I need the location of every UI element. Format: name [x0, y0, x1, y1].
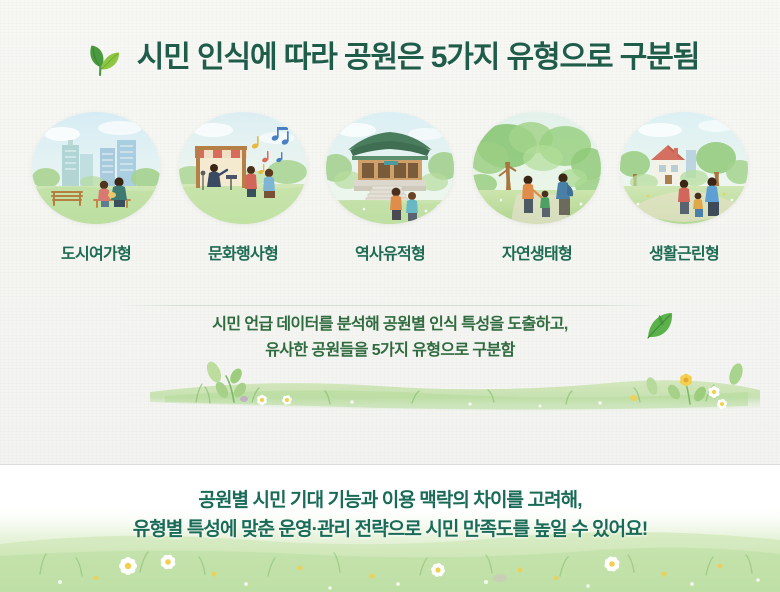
cultural-event-stage-illustration — [179, 112, 307, 224]
footer-message-line-1: 공원별 시민 기대 기능과 이용 맥락의 차이를 고려해, — [0, 486, 780, 515]
headline-row: 시민 인식에 따라 공원은 5가지 유형으로 구분됨 — [0, 28, 780, 86]
leaf-sprout-icon — [81, 36, 123, 78]
park-type-label: 역사유적형 — [355, 240, 425, 264]
neighborhood-living-park-illustration — [620, 112, 748, 224]
park-type-card-nature-ecology[interactable]: 자연생태형 — [471, 112, 604, 264]
park-type-label: 생활근린형 — [649, 240, 719, 264]
watercolor-grass-meadow-with-daisies — [0, 352, 780, 420]
single-leaf-icon — [643, 308, 677, 342]
page-title: 시민 인식에 따라 공원은 5가지 유형으로 구분됨 — [137, 41, 700, 74]
bottom-section: 공원별 시민 기대 기능과 이용 맥락의 차이를 고려해, 유형별 특성에 맞춘… — [0, 466, 780, 592]
infographic-poster: 시민 인식에 따라 공원은 5가지 유형으로 구분됨 — [0, 0, 780, 592]
park-type-row: 도시여가형 — [0, 112, 780, 262]
park-type-card-cultural-event[interactable]: 문화행사형 — [177, 112, 310, 264]
footer-message: 공원별 시민 기대 기능과 이용 맥락의 차이를 고려해, 유형별 특성에 맞춘… — [0, 486, 780, 545]
section-divider — [120, 305, 660, 306]
park-type-label: 자연생태형 — [502, 240, 572, 264]
park-type-card-historic-heritage[interactable]: 역사유적형 — [324, 112, 457, 264]
park-type-card-city-leisure[interactable]: 도시여가형 — [30, 112, 163, 264]
park-type-label: 문화행사형 — [208, 240, 278, 264]
park-type-card-neighborhood-living[interactable]: 생활근린형 — [618, 112, 751, 264]
city-leisure-park-illustration — [32, 112, 160, 224]
footer-message-line-2: 유형별 특성에 맞춘 운영·관리 전략으로 시민 만족도를 높일 수 있어요! — [0, 515, 780, 544]
nature-ecology-forest-illustration — [473, 112, 601, 224]
top-section: 시민 인식에 따라 공원은 5가지 유형으로 구분됨 — [0, 0, 780, 465]
historic-heritage-hanok-illustration — [326, 112, 454, 224]
park-type-label: 도시여가형 — [61, 240, 131, 264]
